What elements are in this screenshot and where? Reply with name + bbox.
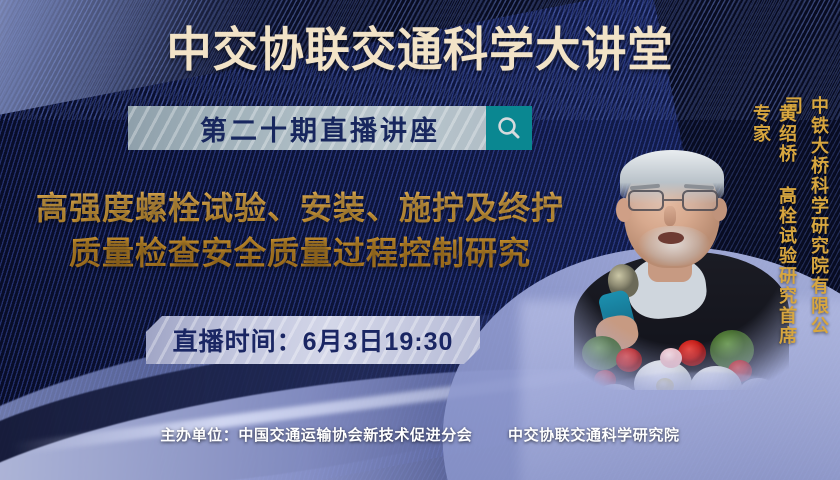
organizer-secondary: 中交协联交通科学研究院: [508, 427, 680, 444]
speaker-name-title: 黄绍桥 高栓试验研究首席专家: [748, 104, 800, 354]
episode-label: 第二十期直播讲座: [128, 109, 486, 148]
broadcast-time-label: 直播时间：6月3日19:30: [173, 322, 454, 358]
headline-line-2: 质量检查安全质量过程控制研究: [0, 231, 600, 276]
poster-canvas: 中交协联交通科学大讲堂 第二十期直播讲座 高强度螺栓试验、安装、施拧及终拧 质量…: [0, 0, 840, 480]
search-icon[interactable]: [486, 106, 532, 150]
bouquet-leaf: [582, 336, 622, 370]
bouquet-flower-pink: [660, 348, 682, 368]
photo-glasses-lens-left: [628, 190, 664, 211]
bouquet-flower-red: [616, 348, 642, 372]
bouquet-flower-red: [678, 340, 706, 366]
broadcast-time-badge: 直播时间：6月3日19:30: [146, 316, 480, 364]
page-title: 中交协联交通科学大讲堂: [17, 22, 823, 78]
photo-nose: [664, 206, 676, 226]
photo-glasses-lens-right: [682, 190, 718, 211]
episode-bar: 第二十期直播讲座: [128, 106, 532, 150]
photo-glasses-bridge: [664, 199, 682, 201]
organizer-primary: 主办单位：中国交通运输协会新技术促进分会: [160, 427, 472, 444]
photo-mouth: [658, 232, 684, 244]
organizer-footer: 主办单位：中国交通运输协会新技术促进分会 中交协联交通科学研究院: [0, 424, 840, 445]
headline-line-1: 高强度螺栓试验、安装、施拧及终拧: [36, 190, 564, 226]
lecture-headline: 高强度螺栓试验、安装、施拧及终拧 质量检查安全质量过程控制研究: [0, 186, 600, 276]
